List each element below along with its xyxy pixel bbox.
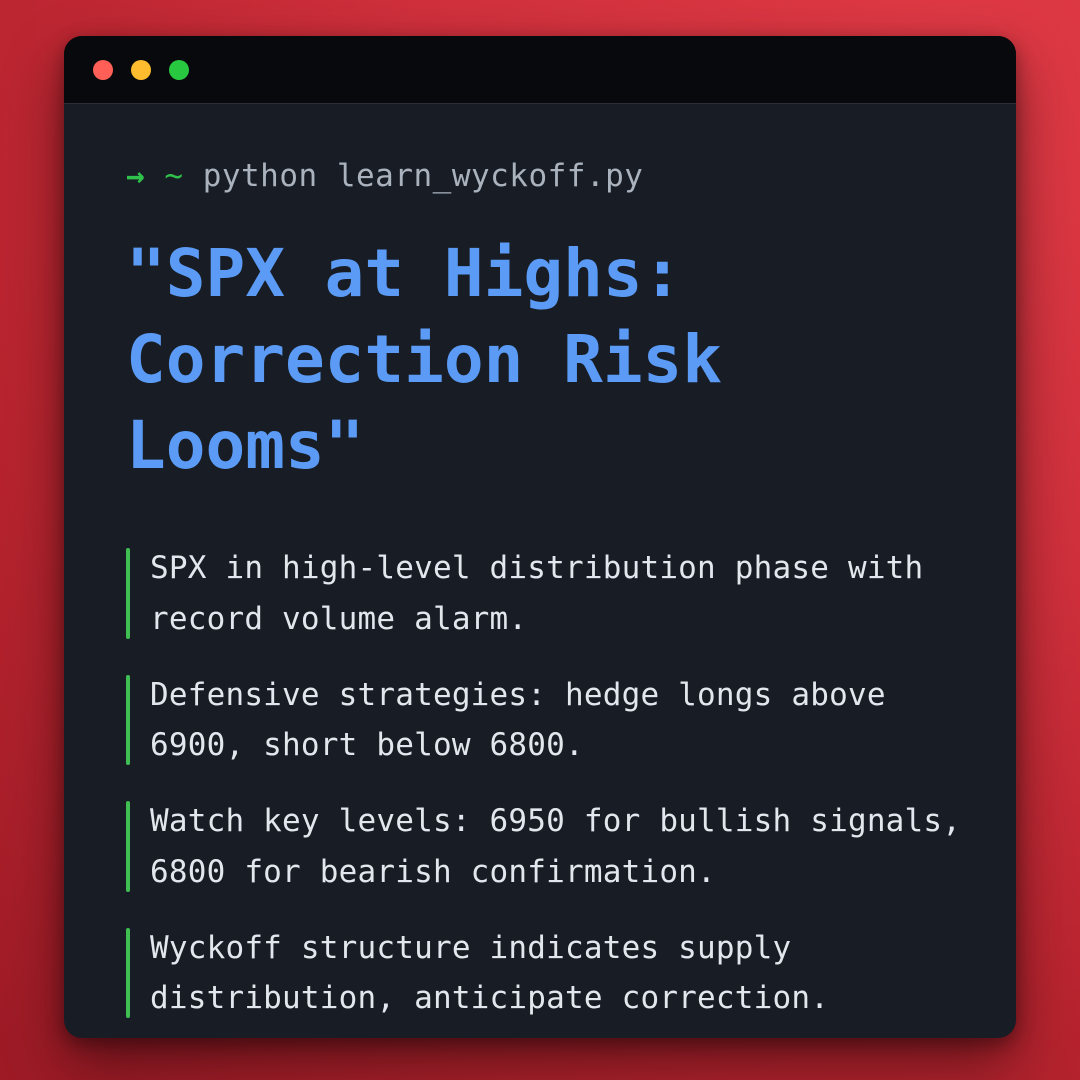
- terminal-window: → ~ python learn_wyckoff.py "SPX at High…: [64, 36, 1016, 1038]
- prompt-command-text: python learn_wyckoff.py: [203, 159, 644, 193]
- bullet-item: Watch key levels: 6950 for bullish signa…: [126, 796, 970, 896]
- prompt-spacer-1: [145, 159, 164, 193]
- bullet-item: Wyckoff structure indicates supply distr…: [126, 923, 970, 1023]
- window-titlebar[interactable]: [64, 36, 1016, 104]
- minimize-button-icon[interactable]: [131, 60, 151, 80]
- bullet-item: SPX in high-level distribution phase wit…: [126, 543, 970, 643]
- prompt-spacer-2: [184, 159, 203, 193]
- prompt-arrow-icon: →: [126, 159, 145, 193]
- terminal-prompt-line: → ~ python learn_wyckoff.py: [126, 159, 970, 193]
- prompt-home-tilde: ~: [164, 159, 183, 193]
- headline-title: "SPX at Highs: Correction Risk Looms": [126, 231, 970, 488]
- screenshot-stage: → ~ python learn_wyckoff.py "SPX at High…: [0, 0, 1080, 1080]
- bullet-item: Defensive strategies: hedge longs above …: [126, 670, 970, 770]
- terminal-content: → ~ python learn_wyckoff.py "SPX at High…: [64, 104, 1016, 1038]
- close-button-icon[interactable]: [93, 60, 113, 80]
- maximize-button-icon[interactable]: [169, 60, 189, 80]
